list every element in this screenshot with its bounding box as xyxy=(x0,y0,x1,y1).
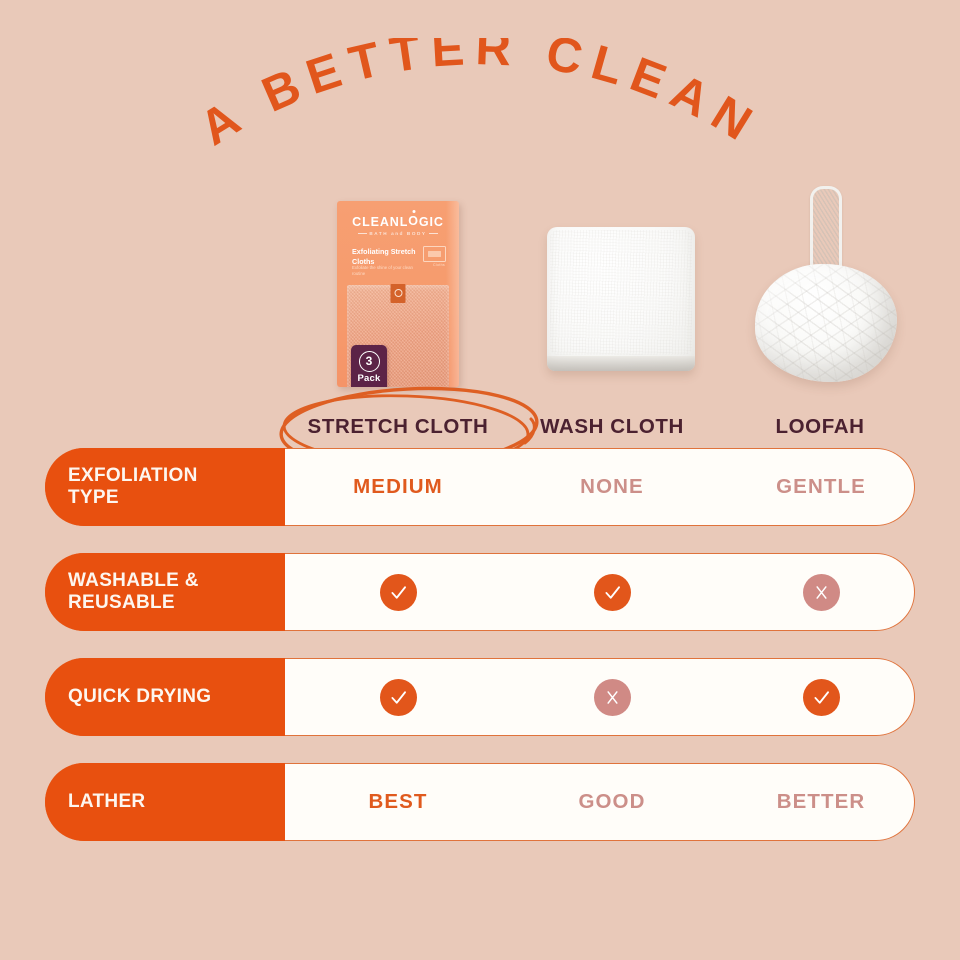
package-tagline-text: BATH and BODY xyxy=(369,231,426,236)
cell-value: GENTLE xyxy=(776,475,866,499)
title-text: A BETTER CLEAN xyxy=(191,38,769,156)
cell-value: GOOD xyxy=(578,790,645,814)
cell-washable-loofah xyxy=(716,553,926,631)
tagline-rule-right xyxy=(429,233,438,234)
cross-icon xyxy=(594,679,631,716)
row-label-text: WASHABLE &REUSABLE xyxy=(68,570,199,615)
cell-value: MEDIUM xyxy=(353,475,443,499)
check-icon xyxy=(380,679,417,716)
cell-quick-drying-wash-cloth xyxy=(507,658,717,736)
row-label-text: QUICK DRYING xyxy=(68,686,211,708)
pack-count-word: Pack xyxy=(351,373,387,384)
check-icon xyxy=(594,574,631,611)
package-brand-text: CLEANLOGIC xyxy=(352,215,444,229)
column-headers: STRETCH CLOTH WASH CLOTH LOOFAH xyxy=(0,415,960,449)
table-row: EXFOLIATIONTYPE MEDIUM NONE GENTLE xyxy=(0,448,960,526)
package-description: Exfoliate the shine of your clean routin… xyxy=(352,265,418,277)
product-image-wash-cloth xyxy=(547,227,695,371)
cell-exfoliation-loofah: GENTLE xyxy=(716,448,926,526)
package-tagline: BATH and BODY xyxy=(337,231,459,236)
table-row: QUICK DRYING xyxy=(0,658,960,736)
table-row: WASHABLE &REUSABLE xyxy=(0,553,960,631)
cell-lather-loofah: BETTER xyxy=(716,763,926,841)
row-label-text: LATHER xyxy=(68,791,145,813)
tagline-rule-left xyxy=(358,233,367,234)
column-header-loofah: LOOFAH xyxy=(680,415,960,439)
cell-washable-stretch-cloth xyxy=(293,553,503,631)
product-images: CLEANLOGIC BATH and BODY Exfoliating Str… xyxy=(0,180,960,405)
package-cloth-tab xyxy=(391,284,406,303)
product-image-stretch-cloth: CLEANLOGIC BATH and BODY Exfoliating Str… xyxy=(337,201,459,387)
page-title: A BETTER CLEAN xyxy=(0,38,960,158)
row-label-quick-drying: QUICK DRYING xyxy=(45,658,285,736)
cell-lather-stretch-cloth: BEST xyxy=(293,763,503,841)
cell-value: NONE xyxy=(580,475,644,499)
infographic-root: A BETTER CLEAN CLEANLOGIC BATH and BODY … xyxy=(0,0,960,960)
row-label-washable-reusable: WASHABLE &REUSABLE xyxy=(45,553,285,631)
check-icon xyxy=(380,574,417,611)
pack-count-badge: 3 Pack xyxy=(351,345,387,387)
package-swatch-icon xyxy=(423,246,446,262)
package-brand: CLEANLOGIC xyxy=(337,215,459,229)
loofah-mesh-ball xyxy=(755,264,897,382)
cell-exfoliation-stretch-cloth: MEDIUM xyxy=(293,448,503,526)
pack-count-number: 3 xyxy=(359,351,380,372)
package-swatch-caption: Cloths xyxy=(433,263,445,267)
cell-lather-wash-cloth: GOOD xyxy=(507,763,717,841)
comparison-table: EXFOLIATIONTYPE MEDIUM NONE GENTLE WASHA… xyxy=(0,448,960,868)
table-row: LATHER BEST GOOD BETTER xyxy=(0,763,960,841)
row-label-exfoliation-type: EXFOLIATIONTYPE xyxy=(45,448,285,526)
package-product-name: Exfoliating Stretch Cloths xyxy=(352,247,424,266)
cell-value: BETTER xyxy=(777,790,866,814)
row-label-text: EXFOLIATIONTYPE xyxy=(68,465,198,510)
title-arc: A BETTER CLEAN xyxy=(0,38,960,158)
cell-quick-drying-stretch-cloth xyxy=(293,658,503,736)
cell-quick-drying-loofah xyxy=(716,658,926,736)
cell-value: BEST xyxy=(368,790,427,814)
cross-icon xyxy=(803,574,840,611)
cell-exfoliation-wash-cloth: NONE xyxy=(507,448,717,526)
cell-washable-wash-cloth xyxy=(507,553,717,631)
product-image-loofah xyxy=(745,180,905,385)
check-icon xyxy=(803,679,840,716)
row-label-lather: LATHER xyxy=(45,763,285,841)
